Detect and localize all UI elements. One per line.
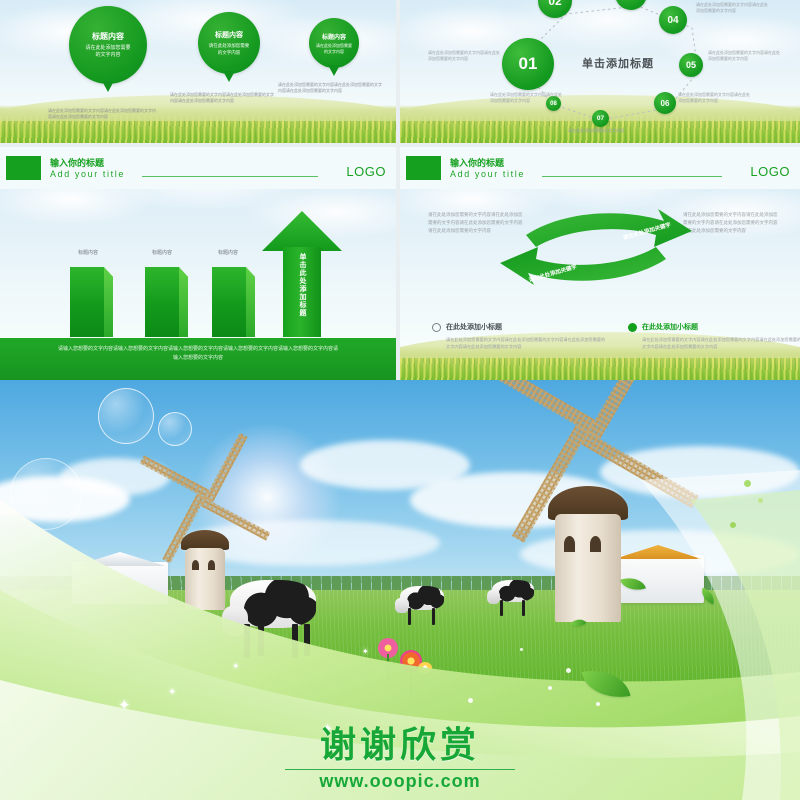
balloon-callout-3[interactable]: 标题内容 请在此处添加您需要的文字内容 请在此处添加您需要的文字内容请在此处添加…	[278, 18, 390, 94]
white-dot	[596, 702, 600, 706]
balloon-title: 标题内容	[215, 30, 243, 40]
balloon-subtitle: 请在此处添加您需要的文字内容	[85, 45, 130, 59]
hex-node-01[interactable]: 01	[502, 38, 554, 90]
header-rule	[542, 176, 722, 177]
hex-node-04[interactable]: 04	[659, 6, 687, 34]
balloon-title: 标题内容	[92, 31, 124, 42]
chart-bar-3	[212, 267, 246, 337]
balloon-body: 请在此处添加您需要的文字内容请在此处添加您需要的文字内容请在此处添加您需要的文字…	[48, 108, 156, 120]
hexagon-diagram: 01 02 03 04 05 06 07 08 单击添加标题 请在此处添加您需要…	[400, 0, 800, 143]
thanks-block: 谢谢欣赏 www.ooopic.com	[0, 716, 800, 792]
thanks-text: 谢谢欣赏	[0, 716, 800, 768]
logo-placeholder: LOGO	[750, 164, 790, 179]
header-accent-square	[406, 156, 441, 180]
bullet-title: 在此处添加小标题	[642, 322, 698, 332]
hex-node-06[interactable]: 06	[654, 92, 676, 114]
slide-thumbnail-grid: 标题内容 请在此处添加您需要的文字内容 请在此处添加您需要的文字内容请在此处添加…	[0, 0, 800, 380]
chart-bar-2	[145, 267, 179, 337]
chart-bar-1	[70, 267, 104, 337]
slide-thumbnail-1[interactable]: 标题内容 请在此处添加您需要的文字内容 请在此处添加您需要的文字内容请在此处添加…	[0, 0, 396, 143]
hex-caption-08: 请在此处添加您需要的文字内容请在此处添加您需要的文字内容	[490, 92, 562, 104]
sparkle: ✦	[362, 648, 369, 656]
header-accent-square	[6, 156, 41, 180]
circle-filled-icon	[628, 323, 637, 332]
thanks-divider	[285, 769, 515, 770]
hex-node-07[interactable]: 07	[592, 110, 609, 127]
header-title-cn: 输入你的标题	[50, 156, 104, 169]
hex-caption-07: 请在此处添加您需要的文字内容	[568, 128, 658, 134]
bar-label-1: 标题内容	[78, 249, 98, 256]
slide3-footer-band: 请输入您想要的文字内容请输入您想要的文字内容请输入您想要的文字内容请输入您想要的…	[0, 338, 396, 380]
hex-caption-05: 请在此处添加您需要的文字内容请在此处添加您需要的文字内容	[708, 50, 780, 62]
slide-thumbnail-4[interactable]: 输入你的标题 Add your title LOGO 请在此处添加您需要的文字内…	[400, 147, 800, 380]
green-dot	[730, 522, 736, 528]
logo-placeholder: LOGO	[346, 164, 386, 179]
white-dot	[520, 648, 523, 651]
bullet-body: 请在此处添加您需要的文字内容请在此处添加您需要的文字内容请在此处添加您需要的文字…	[432, 336, 607, 351]
sparkle: ✦	[168, 688, 176, 698]
hex-caption-04: 请在此处添加您需要的文字内容请在此处添加您需要的文字内容	[696, 2, 768, 14]
slide3-footer-text: 请输入您想要的文字内容请输入您想要的文字内容请输入您想要的文字内容请输入您想要的…	[0, 338, 396, 363]
header-rule	[142, 176, 318, 177]
balloon-body: 请在此处添加您需要的文字内容请在此处添加您需要的文字内容请在此处添加您需要的文字…	[278, 82, 382, 94]
bar-label-2: 标题内容	[152, 249, 172, 256]
white-dot	[548, 686, 552, 690]
bullet-item-1[interactable]: 在此处添加小标题 请在此处添加您需要的文字内容请在此处添加您需要的文字内容请在此…	[432, 322, 607, 351]
hex-caption-01: 请在此处添加您需要的文字内容请在此处添加您需要的文字内容	[428, 50, 500, 62]
balloon-circle: 标题内容 请在此处添加您需要的文字内容	[198, 12, 260, 74]
header-title-cn: 输入你的标题	[450, 156, 504, 169]
balloon-callout-2[interactable]: 标题内容 请在此处添加您需要的文字内容 请在此处添加您需要的文字内容请在此处添加…	[170, 12, 288, 104]
sparkle: ✦	[118, 698, 131, 713]
bullet-body: 请在此处添加您需要的文字内容请在此处添加您需要的文字内容请在此处添加您需要的文字…	[628, 336, 800, 351]
slide4-bullet-list: 在此处添加小标题 请在此处添加您需要的文字内容请在此处添加您需要的文字内容请在此…	[400, 322, 800, 374]
circle-outline-icon	[432, 323, 441, 332]
balloon-callout-1[interactable]: 标题内容 请在此处添加您需要的文字内容 请在此处添加您需要的文字内容请在此处添加…	[48, 6, 168, 120]
header-title-en: Add your title	[450, 169, 525, 179]
balloon-circle: 标题内容 请在此处添加您需要的文字内容	[309, 18, 359, 68]
balloon-subtitle: 请在此处添加您需要的文字内容	[209, 43, 250, 55]
growth-arrow: 单击此处添加标题	[262, 211, 342, 337]
hero-farm-image: ✦ ✦ ✦ ✦ ✦ 谢谢欣赏 www.ooopic.com	[0, 380, 800, 800]
hex-caption-06: 请在此处添加您需要的文字内容请在此处添加您需要的文字内容	[678, 92, 750, 104]
white-dot	[566, 668, 571, 673]
hex-node-05[interactable]: 05	[679, 53, 703, 77]
website-watermark: www.ooopic.com	[0, 771, 800, 792]
balloon-body: 请在此处添加您需要的文字内容请在此处添加您需要的文字内容请在此处添加您需要的文字…	[170, 92, 276, 104]
header-title-en: Add your title	[50, 169, 125, 179]
balloon-subtitle: 请在此处添加您需要的文字内容	[316, 43, 352, 54]
slide3-header: 输入你的标题 Add your title LOGO	[0, 147, 396, 189]
template-preview-page: 标题内容 请在此处添加您需要的文字内容 请在此处添加您需要的文字内容请在此处添加…	[0, 0, 800, 800]
slide-thumbnail-3[interactable]: 输入你的标题 Add your title LOGO 标题内容 标题内容 标题内…	[0, 147, 396, 380]
hex-center-title: 单击添加标题	[582, 55, 654, 71]
sparkle: ✦	[232, 662, 240, 671]
balloon-circle: 标题内容 请在此处添加您需要的文字内容	[69, 6, 147, 84]
balloon-title: 标题内容	[322, 32, 346, 41]
white-dot	[468, 698, 473, 703]
green-dot	[758, 498, 763, 503]
slide-thumbnail-2[interactable]: 01 02 03 04 05 06 07 08 单击添加标题 请在此处添加您需要…	[400, 0, 800, 143]
cycle-arrow-shapes	[496, 207, 696, 287]
cycle-right-text: 请在此处添加您需要的文字内容请在此处添加您需要的文字内容请在此处添加您需要的文字…	[683, 211, 778, 235]
slide4-header: 输入你的标题 Add your title LOGO	[400, 147, 800, 189]
bar-label-3: 标题内容	[218, 249, 238, 256]
green-dot	[744, 480, 751, 487]
bullet-item-2[interactable]: 在此处添加小标题 请在此处添加您需要的文字内容请在此处添加您需要的文字内容请在此…	[628, 322, 800, 351]
bullet-title: 在此处添加小标题	[446, 322, 502, 332]
arrow-label: 单击此处添加标题	[297, 253, 307, 317]
